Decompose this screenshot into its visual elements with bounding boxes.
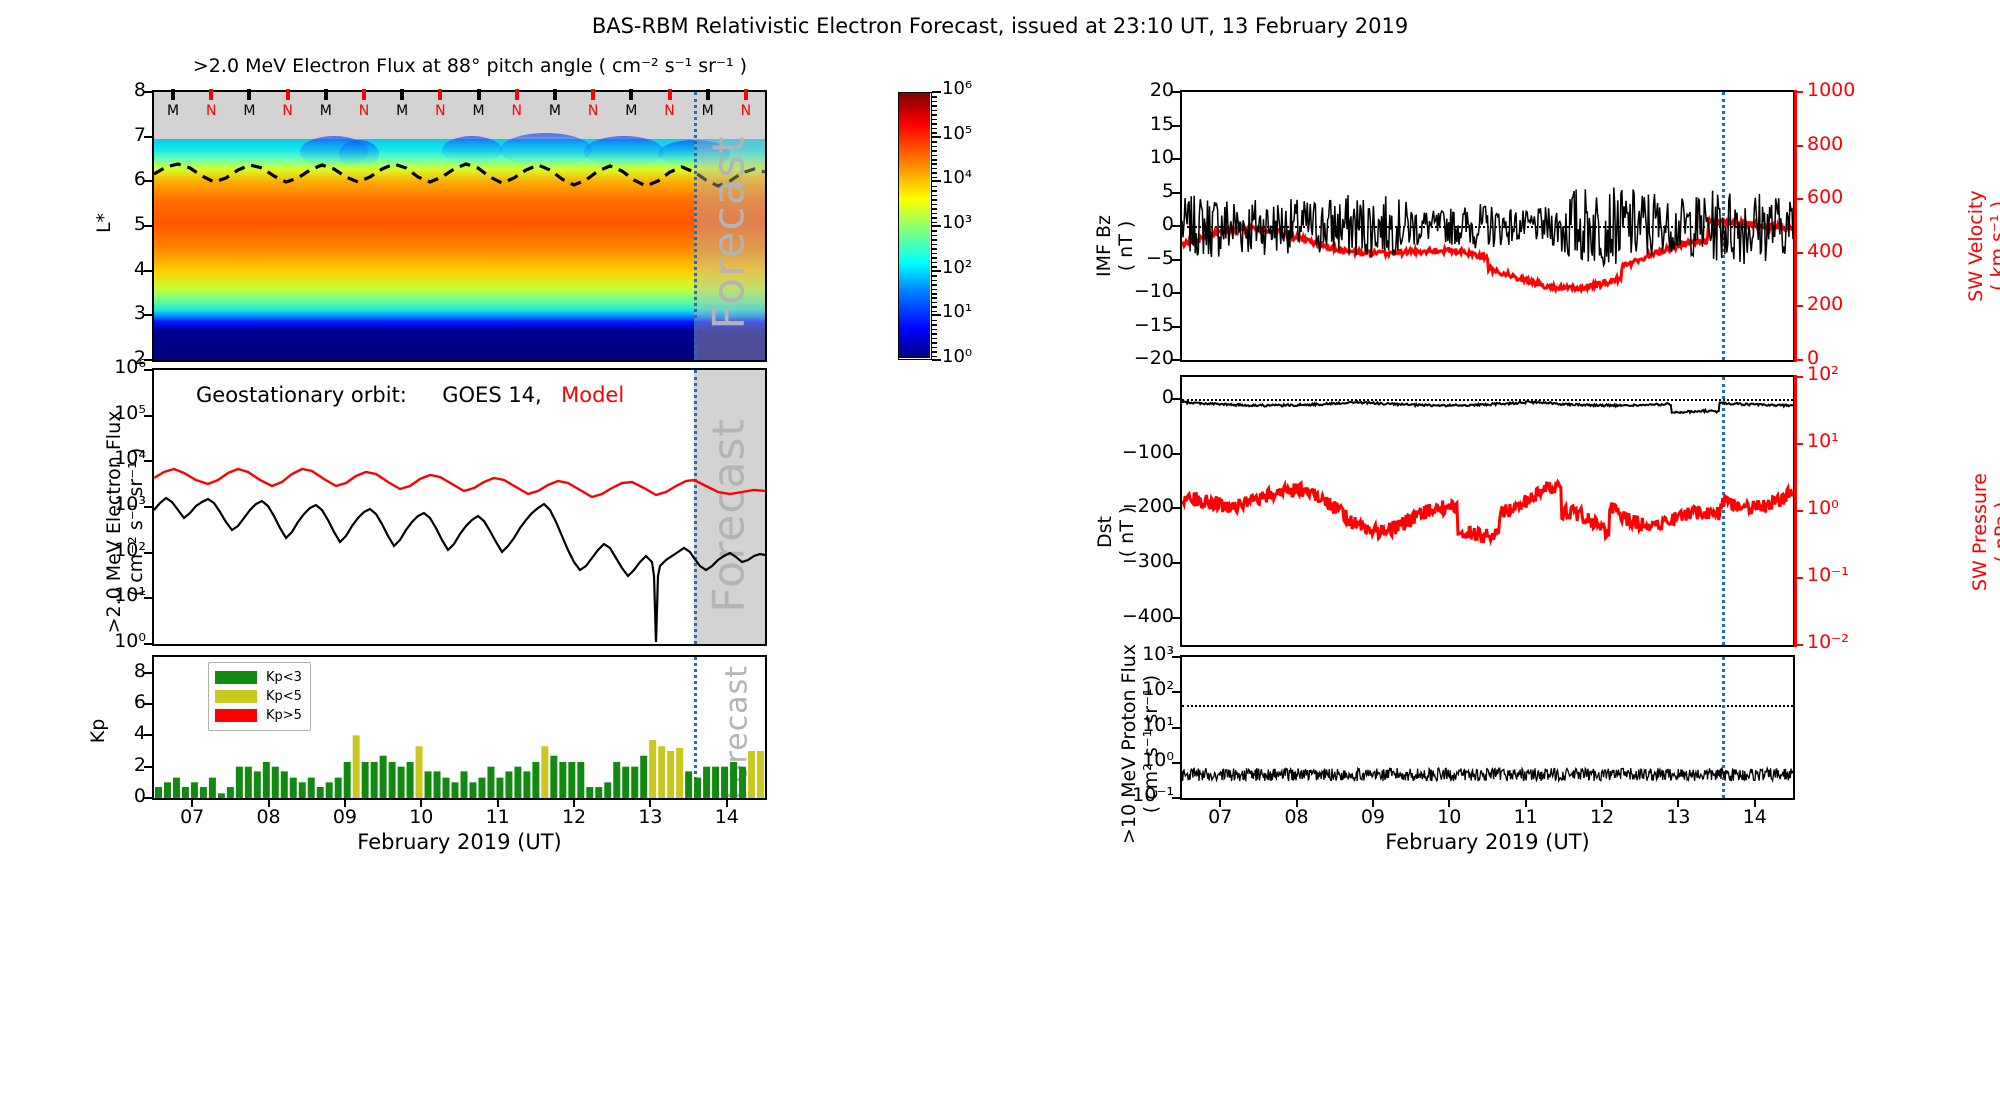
imf-bz-ytick-label: −10 bbox=[1126, 280, 1174, 302]
proton-xtick-label: 13 bbox=[1656, 806, 1700, 828]
sw-velocity-ylabel-line1: SW Velocity bbox=[1965, 121, 1987, 371]
kp-ytick bbox=[144, 766, 152, 768]
flux-map-ytick-label: 4 bbox=[118, 258, 146, 280]
forecast-start-line-p1 bbox=[694, 92, 697, 360]
proton-xtick-label: 08 bbox=[1275, 806, 1319, 828]
kp-xtick bbox=[268, 799, 270, 807]
proton-xtick bbox=[1754, 799, 1756, 807]
kp-xtick-label: 12 bbox=[552, 806, 596, 828]
kp-ytick bbox=[144, 703, 152, 705]
proton-xtick bbox=[1525, 799, 1527, 807]
flux-map-ytick bbox=[144, 314, 152, 316]
dst-trace bbox=[1182, 401, 1793, 413]
sw-pressure-ylabel-line2: ( nPa ) bbox=[1991, 407, 2000, 657]
kp-ytick-label: 4 bbox=[118, 722, 146, 744]
kp-xtick bbox=[573, 799, 575, 807]
colorbar-minor-tick bbox=[932, 186, 937, 188]
geo-flux-legend-model: Model bbox=[561, 383, 624, 407]
colorbar-minor-tick bbox=[932, 248, 937, 250]
kp-bar bbox=[667, 751, 674, 798]
mn-label-n: N bbox=[357, 103, 371, 119]
colorbar-tick-label: 10⁰ bbox=[942, 346, 972, 367]
geo-flux-ytick-label: 10⁰ bbox=[100, 630, 146, 652]
colorbar-minor-tick bbox=[932, 114, 937, 116]
colorbar-minor-tick bbox=[932, 190, 937, 192]
sw-velocity-ytick-label: 400 bbox=[1807, 240, 1843, 262]
mn-label-m: M bbox=[395, 103, 409, 119]
kp-bar bbox=[389, 762, 396, 798]
kp-xtick bbox=[191, 799, 193, 807]
colorbar-minor-tick bbox=[932, 101, 937, 103]
kp-bar bbox=[739, 767, 746, 798]
mn-label-n: N bbox=[663, 103, 677, 119]
colorbar-tick bbox=[932, 180, 941, 182]
flux-map-ytick bbox=[144, 270, 152, 272]
proton-xtick bbox=[1601, 799, 1603, 807]
kp-bar bbox=[514, 767, 521, 798]
forecast-watermark-p1: Forecast bbox=[704, 128, 755, 338]
mn-tick-n bbox=[668, 89, 672, 100]
colorbar-tick-label: 10⁶ bbox=[942, 78, 972, 99]
imf-bz-ytick bbox=[1172, 359, 1180, 361]
legend-item: Kp>5 bbox=[215, 706, 302, 725]
kp-bar bbox=[182, 787, 189, 798]
imf-bz-ylabel-line1: IMF Bz bbox=[1093, 151, 1115, 341]
geo-flux-ytick bbox=[144, 552, 152, 554]
proton-ytick bbox=[1172, 797, 1180, 799]
kp-bar bbox=[173, 778, 180, 798]
kp-bar bbox=[317, 787, 324, 798]
kp-bar bbox=[757, 751, 764, 798]
kp-bar bbox=[371, 762, 378, 798]
page-title: BAS-RBM Relativistic Electron Forecast, … bbox=[0, 14, 2000, 38]
colorbar-minor-tick bbox=[932, 275, 937, 277]
colorbar-minor-tick bbox=[932, 128, 937, 130]
kp-xtick-label: 08 bbox=[247, 806, 291, 828]
kp-bar bbox=[694, 778, 701, 798]
colorbar-minor-tick bbox=[932, 257, 937, 259]
colorbar-minor-tick bbox=[932, 333, 937, 335]
kp-bar bbox=[299, 782, 306, 798]
kp-bar bbox=[577, 762, 584, 798]
kp-bar bbox=[218, 793, 225, 798]
imf-bz-ytick-label: −20 bbox=[1126, 347, 1174, 369]
imf-bz-ytick-label: 15 bbox=[1126, 113, 1174, 135]
geo-flux-legend-obs: GOES 14, bbox=[442, 383, 541, 407]
kp-bar bbox=[290, 778, 297, 798]
kp-bar bbox=[622, 767, 629, 798]
geo-flux-ytick-label: 10⁶ bbox=[100, 356, 146, 378]
colorbar-minor-tick bbox=[932, 168, 937, 170]
kp-bar bbox=[595, 787, 602, 798]
kp-bar bbox=[209, 778, 216, 798]
mn-label-m: M bbox=[472, 103, 486, 119]
colorbar-minor-tick bbox=[932, 110, 937, 112]
colorbar-tick bbox=[932, 314, 941, 316]
kp-ytick bbox=[144, 734, 152, 736]
proton-ylabel-line1: >10 MeV Proton Flux bbox=[1118, 584, 1140, 904]
kp-bar bbox=[712, 767, 719, 798]
kp-bar bbox=[362, 762, 369, 798]
sw-pressure-trace bbox=[1182, 482, 1793, 543]
mn-tick-m bbox=[171, 89, 175, 100]
imf-bz-ytick-label: −15 bbox=[1126, 314, 1174, 336]
geo-flux-ytick-label: 10⁴ bbox=[100, 447, 146, 469]
kp-bar bbox=[703, 767, 710, 798]
kp-bar bbox=[326, 782, 333, 798]
proton-ytick bbox=[1172, 727, 1180, 729]
colorbar-minor-tick bbox=[932, 163, 937, 165]
colorbar-minor-tick bbox=[932, 217, 937, 219]
proton-xtick-label: 10 bbox=[1427, 806, 1471, 828]
kp-ytick bbox=[144, 797, 152, 799]
colorbar-tick-label: 10³ bbox=[942, 212, 972, 233]
geo-flux-ytick bbox=[144, 597, 152, 599]
flux-map-panel: Forecast bbox=[152, 90, 767, 362]
kp-bar bbox=[658, 746, 665, 798]
colorbar-minor-tick bbox=[932, 195, 937, 197]
mn-label-n: N bbox=[739, 103, 753, 119]
dst-ytick bbox=[1172, 617, 1180, 619]
dst-ytick bbox=[1172, 453, 1180, 455]
kp-xtick-label: 09 bbox=[323, 806, 367, 828]
flux-map-ylabel: L* bbox=[93, 193, 115, 253]
colorbar-tick bbox=[932, 359, 941, 361]
kp-bar bbox=[398, 767, 405, 798]
sw-pressure-axis-spine bbox=[1794, 375, 1797, 647]
geo-flux-traces bbox=[154, 370, 765, 644]
colorbar-tick-label: 10⁴ bbox=[942, 167, 972, 188]
proton-xtick-label: 09 bbox=[1351, 806, 1395, 828]
kp-bar bbox=[631, 767, 638, 798]
sw-pressure-ytick-label: 10⁻¹ bbox=[1807, 564, 1849, 586]
sw-velocity-ytick-label: 200 bbox=[1807, 293, 1843, 315]
kp-bar bbox=[200, 787, 207, 798]
kp-xtick-label: 11 bbox=[476, 806, 520, 828]
kp-high-swatch bbox=[215, 709, 257, 722]
kp-bar bbox=[308, 778, 315, 798]
kp-bar bbox=[721, 767, 728, 798]
kp-bar bbox=[568, 762, 575, 798]
proton-xtick bbox=[1296, 799, 1298, 807]
imf-bz-ytick bbox=[1172, 125, 1180, 127]
dst-ytick-label: 0 bbox=[1102, 386, 1174, 408]
kp-bar bbox=[344, 762, 351, 798]
colorbar-minor-tick bbox=[932, 280, 937, 282]
geo-flux-ytick bbox=[144, 506, 152, 508]
kp-bar bbox=[425, 771, 432, 798]
kp-bar bbox=[227, 787, 234, 798]
proton-xtick-label: 12 bbox=[1580, 806, 1624, 828]
imf-bz-ytick-label: 5 bbox=[1126, 180, 1174, 202]
colorbar-minor-tick bbox=[932, 329, 937, 331]
dst-ytick bbox=[1172, 507, 1180, 509]
geo-flux-ytick-label: 10³ bbox=[100, 493, 146, 515]
colorbar-minor-tick bbox=[932, 96, 937, 98]
colorbar-minor-tick bbox=[932, 235, 937, 237]
colorbar bbox=[898, 92, 932, 360]
colorbar-minor-tick bbox=[932, 351, 937, 353]
colorbar-minor-tick bbox=[932, 306, 937, 308]
kp-bar bbox=[748, 751, 755, 798]
imf-bz-ytick bbox=[1172, 326, 1180, 328]
proton-xtick-label: 11 bbox=[1504, 806, 1548, 828]
proton-xtick-label: 07 bbox=[1198, 806, 1242, 828]
mn-label-m: M bbox=[166, 103, 180, 119]
kp-bar bbox=[487, 767, 494, 798]
geo-flux-ytick bbox=[144, 460, 152, 462]
proton-panel bbox=[1180, 655, 1795, 800]
colorbar-minor-tick bbox=[932, 159, 937, 161]
imf-bz-ytick bbox=[1172, 225, 1180, 227]
colorbar-minor-tick bbox=[932, 132, 937, 134]
geo-flux-ytick bbox=[144, 643, 152, 645]
proton-xtick-label: 14 bbox=[1733, 806, 1777, 828]
sw-velocity-ytick-label: 800 bbox=[1807, 133, 1843, 155]
sw-pressure-ytick-label: 10⁻² bbox=[1807, 631, 1849, 653]
geo-flux-ytick bbox=[144, 415, 152, 417]
colorbar-minor-tick bbox=[932, 320, 937, 322]
flux-map-title: >2.0 MeV Electron Flux at 88° pitch angl… bbox=[150, 55, 790, 77]
mn-tick-m bbox=[247, 89, 251, 100]
kp-low-swatch bbox=[215, 671, 257, 684]
flux-map-image bbox=[154, 92, 765, 360]
kp-xtick bbox=[420, 799, 422, 807]
kp-bar bbox=[452, 782, 459, 798]
mn-label-n: N bbox=[586, 103, 600, 119]
kp-bar bbox=[281, 771, 288, 798]
proton-ytick bbox=[1172, 691, 1180, 693]
dst-ytick bbox=[1172, 398, 1180, 400]
imf-panel bbox=[1180, 90, 1795, 362]
kp-ytick-label: 6 bbox=[118, 691, 146, 713]
geo-flux-ytick-label: 10¹ bbox=[100, 584, 146, 606]
proton-ylabel-line2: ( cm² s⁻¹ sr⁻¹ ) bbox=[1140, 584, 1162, 904]
kp-bar bbox=[416, 746, 423, 798]
mn-tick-m bbox=[477, 89, 481, 100]
proton-ytick-label: 10⁻¹ bbox=[1122, 784, 1174, 806]
mn-label-m: M bbox=[319, 103, 333, 119]
mn-tick-n bbox=[515, 89, 519, 100]
proton-ytick-label: 10⁰ bbox=[1122, 749, 1174, 771]
kp-bar bbox=[496, 778, 503, 798]
kp-legend: Kp<3 Kp<5 Kp>5 bbox=[208, 662, 311, 731]
flux-map-ytick-label: 6 bbox=[118, 168, 146, 190]
colorbar-tick bbox=[932, 270, 941, 272]
colorbar-minor-tick bbox=[932, 146, 937, 148]
dst-ytick-label: −300 bbox=[1102, 550, 1174, 572]
flux-map-ytick bbox=[144, 180, 152, 182]
kp-bar bbox=[443, 778, 450, 798]
sw-velocity-axis-spine bbox=[1794, 90, 1797, 362]
kp-mid-label: Kp<5 bbox=[266, 689, 302, 704]
colorbar-tick-label: 10² bbox=[942, 257, 972, 278]
flux-map-ytick-label: 3 bbox=[118, 302, 146, 324]
kp-bar bbox=[541, 746, 548, 798]
proton-ytick-label: 10³ bbox=[1122, 643, 1174, 665]
kp-bar bbox=[335, 778, 342, 798]
proton-ytick-label: 10¹ bbox=[1122, 714, 1174, 736]
kp-bar bbox=[649, 740, 656, 798]
kp-bar bbox=[236, 767, 243, 798]
flux-map-ytick bbox=[144, 91, 152, 93]
imf-bz-ytick bbox=[1172, 292, 1180, 294]
right-xaxis-label: February 2019 (UT) bbox=[1180, 830, 1795, 854]
legend-item: Kp<5 bbox=[215, 687, 302, 706]
colorbar-minor-tick bbox=[932, 208, 937, 210]
kp-bar bbox=[613, 762, 620, 798]
geo-flux-ytick-label: 10⁵ bbox=[100, 402, 146, 424]
legend-item: Kp<3 bbox=[215, 668, 302, 687]
kp-bar bbox=[532, 762, 539, 798]
kp-bar bbox=[469, 782, 476, 798]
colorbar-minor-tick bbox=[932, 342, 937, 344]
proton-trace bbox=[1182, 657, 1793, 798]
sw-velocity-ylabel-line2: ( km s⁻¹ ) bbox=[1987, 121, 2000, 371]
kp-xtick-label: 13 bbox=[628, 806, 672, 828]
kp-bar bbox=[730, 762, 737, 798]
kp-bar bbox=[407, 762, 414, 798]
kp-mid-swatch bbox=[215, 690, 257, 703]
colorbar-minor-tick bbox=[932, 324, 937, 326]
kp-ytick bbox=[144, 672, 152, 674]
mn-tick-n bbox=[438, 89, 442, 100]
sw-velocity-ytick-label: 1000 bbox=[1807, 79, 1855, 101]
dst-ylabel-line1: Dst bbox=[1094, 442, 1116, 622]
kp-xtick bbox=[344, 799, 346, 807]
imf-bz-ytick-label: 10 bbox=[1126, 146, 1174, 168]
flux-map-ytick bbox=[144, 136, 152, 138]
kp-bar bbox=[640, 756, 647, 798]
colorbar-minor-tick bbox=[932, 289, 937, 291]
mn-label-n: N bbox=[204, 103, 218, 119]
kp-xtick bbox=[497, 799, 499, 807]
sw-pressure-ylabel: SW Pressure ( nPa ) bbox=[1969, 407, 2000, 657]
colorbar-minor-tick bbox=[932, 204, 937, 206]
colorbar-tick-label: 10⁵ bbox=[942, 123, 972, 144]
mn-label-m: M bbox=[548, 103, 562, 119]
imf-bz-trace bbox=[1182, 188, 1793, 266]
imf-traces bbox=[1182, 92, 1793, 360]
kp-bar bbox=[164, 782, 171, 798]
proton-xtick bbox=[1448, 799, 1450, 807]
dst-ytick-label: −100 bbox=[1102, 441, 1174, 463]
proton-flux-trace bbox=[1182, 768, 1793, 781]
geo-flux-ytick-label: 10² bbox=[100, 539, 146, 561]
kp-bar bbox=[461, 771, 468, 798]
mn-tick-m bbox=[706, 89, 710, 100]
imf-bz-ytick-label: −5 bbox=[1126, 247, 1174, 269]
mn-label-m: M bbox=[242, 103, 256, 119]
colorbar-minor-tick bbox=[932, 213, 937, 215]
kp-bar bbox=[685, 771, 692, 798]
colorbar-minor-tick bbox=[932, 338, 937, 340]
colorbar-minor-tick bbox=[932, 150, 937, 152]
kp-bar bbox=[604, 782, 611, 798]
kp-low-label: Kp<3 bbox=[266, 670, 302, 685]
colorbar-minor-tick bbox=[932, 297, 937, 299]
proton-xtick bbox=[1677, 799, 1679, 807]
mn-label-n: N bbox=[281, 103, 295, 119]
imf-bz-ytick bbox=[1172, 192, 1180, 194]
colorbar-minor-tick bbox=[932, 284, 937, 286]
kp-bar bbox=[191, 782, 198, 798]
kp-bar bbox=[550, 756, 557, 798]
imf-bz-ytick-label: 0 bbox=[1126, 213, 1174, 235]
mn-label-m: M bbox=[701, 103, 715, 119]
kp-bar bbox=[272, 767, 279, 798]
colorbar-minor-tick bbox=[932, 266, 937, 268]
colorbar-minor-tick bbox=[932, 356, 937, 358]
colorbar-minor-tick bbox=[932, 155, 937, 157]
proton-xtick bbox=[1219, 799, 1221, 807]
kp-bar bbox=[380, 756, 387, 798]
colorbar-minor-tick bbox=[932, 347, 937, 349]
kp-bar bbox=[505, 771, 512, 798]
colorbar-tick bbox=[932, 225, 941, 227]
flux-map-ytick-label: 7 bbox=[118, 124, 146, 146]
kp-high-label: Kp>5 bbox=[266, 708, 302, 723]
sw-velocity-ylabel: SW Velocity ( km s⁻¹ ) bbox=[1965, 121, 2000, 371]
sw-pressure-ytick-label: 10¹ bbox=[1807, 430, 1839, 452]
sw-velocity-ytick-label: 600 bbox=[1807, 186, 1843, 208]
kp-bar bbox=[523, 771, 530, 798]
kp-xtick-label: 14 bbox=[705, 806, 749, 828]
imf-bz-ytick bbox=[1172, 259, 1180, 261]
colorbar-minor-tick bbox=[932, 141, 937, 143]
kp-bar bbox=[559, 762, 566, 798]
left-xaxis-label: February 2019 (UT) bbox=[152, 830, 767, 854]
kp-ytick-label: 8 bbox=[118, 660, 146, 682]
kp-ytick-label: 0 bbox=[118, 785, 146, 807]
colorbar-minor-tick bbox=[932, 119, 937, 121]
colorbar-minor-tick bbox=[932, 311, 937, 313]
kp-bar bbox=[586, 787, 593, 798]
kp-bar bbox=[254, 771, 261, 798]
colorbar-tick-label: 10¹ bbox=[942, 301, 972, 322]
proton-xtick bbox=[1372, 799, 1374, 807]
kp-xtick bbox=[726, 799, 728, 807]
colorbar-tick bbox=[932, 91, 941, 93]
sw-pressure-ytick-label: 10⁰ bbox=[1807, 497, 1839, 519]
kp-xtick-label: 07 bbox=[170, 806, 214, 828]
flux-map-ytick-label: 5 bbox=[118, 213, 146, 235]
colorbar-minor-tick bbox=[932, 172, 937, 174]
dst-ytick-label: −200 bbox=[1102, 495, 1174, 517]
mn-label-n: N bbox=[510, 103, 524, 119]
dst-traces bbox=[1182, 377, 1793, 645]
sw-pressure-ylabel-line1: SW Pressure bbox=[1969, 407, 1991, 657]
colorbar-minor-tick bbox=[932, 177, 937, 179]
imf-bz-ytick bbox=[1172, 158, 1180, 160]
geo-flux-legend: Geostationary orbit: GOES 14, Model bbox=[196, 383, 624, 407]
mn-label-n: N bbox=[433, 103, 447, 119]
sw-pressure-ytick-label: 10² bbox=[1807, 363, 1839, 385]
mn-tick-n bbox=[744, 89, 748, 100]
flux-map-ytick bbox=[144, 225, 152, 227]
kp-xtick-label: 10 bbox=[399, 806, 443, 828]
mn-label-m: M bbox=[624, 103, 638, 119]
proton-ytick bbox=[1172, 656, 1180, 658]
kp-bar bbox=[676, 748, 683, 798]
colorbar-minor-tick bbox=[932, 244, 937, 246]
mn-tick-n bbox=[286, 89, 290, 100]
mn-tick-m bbox=[400, 89, 404, 100]
mn-tick-m bbox=[629, 89, 633, 100]
colorbar-minor-tick bbox=[932, 222, 937, 224]
colorbar-minor-tick bbox=[932, 302, 937, 304]
imf-bz-ytick bbox=[1172, 91, 1180, 93]
